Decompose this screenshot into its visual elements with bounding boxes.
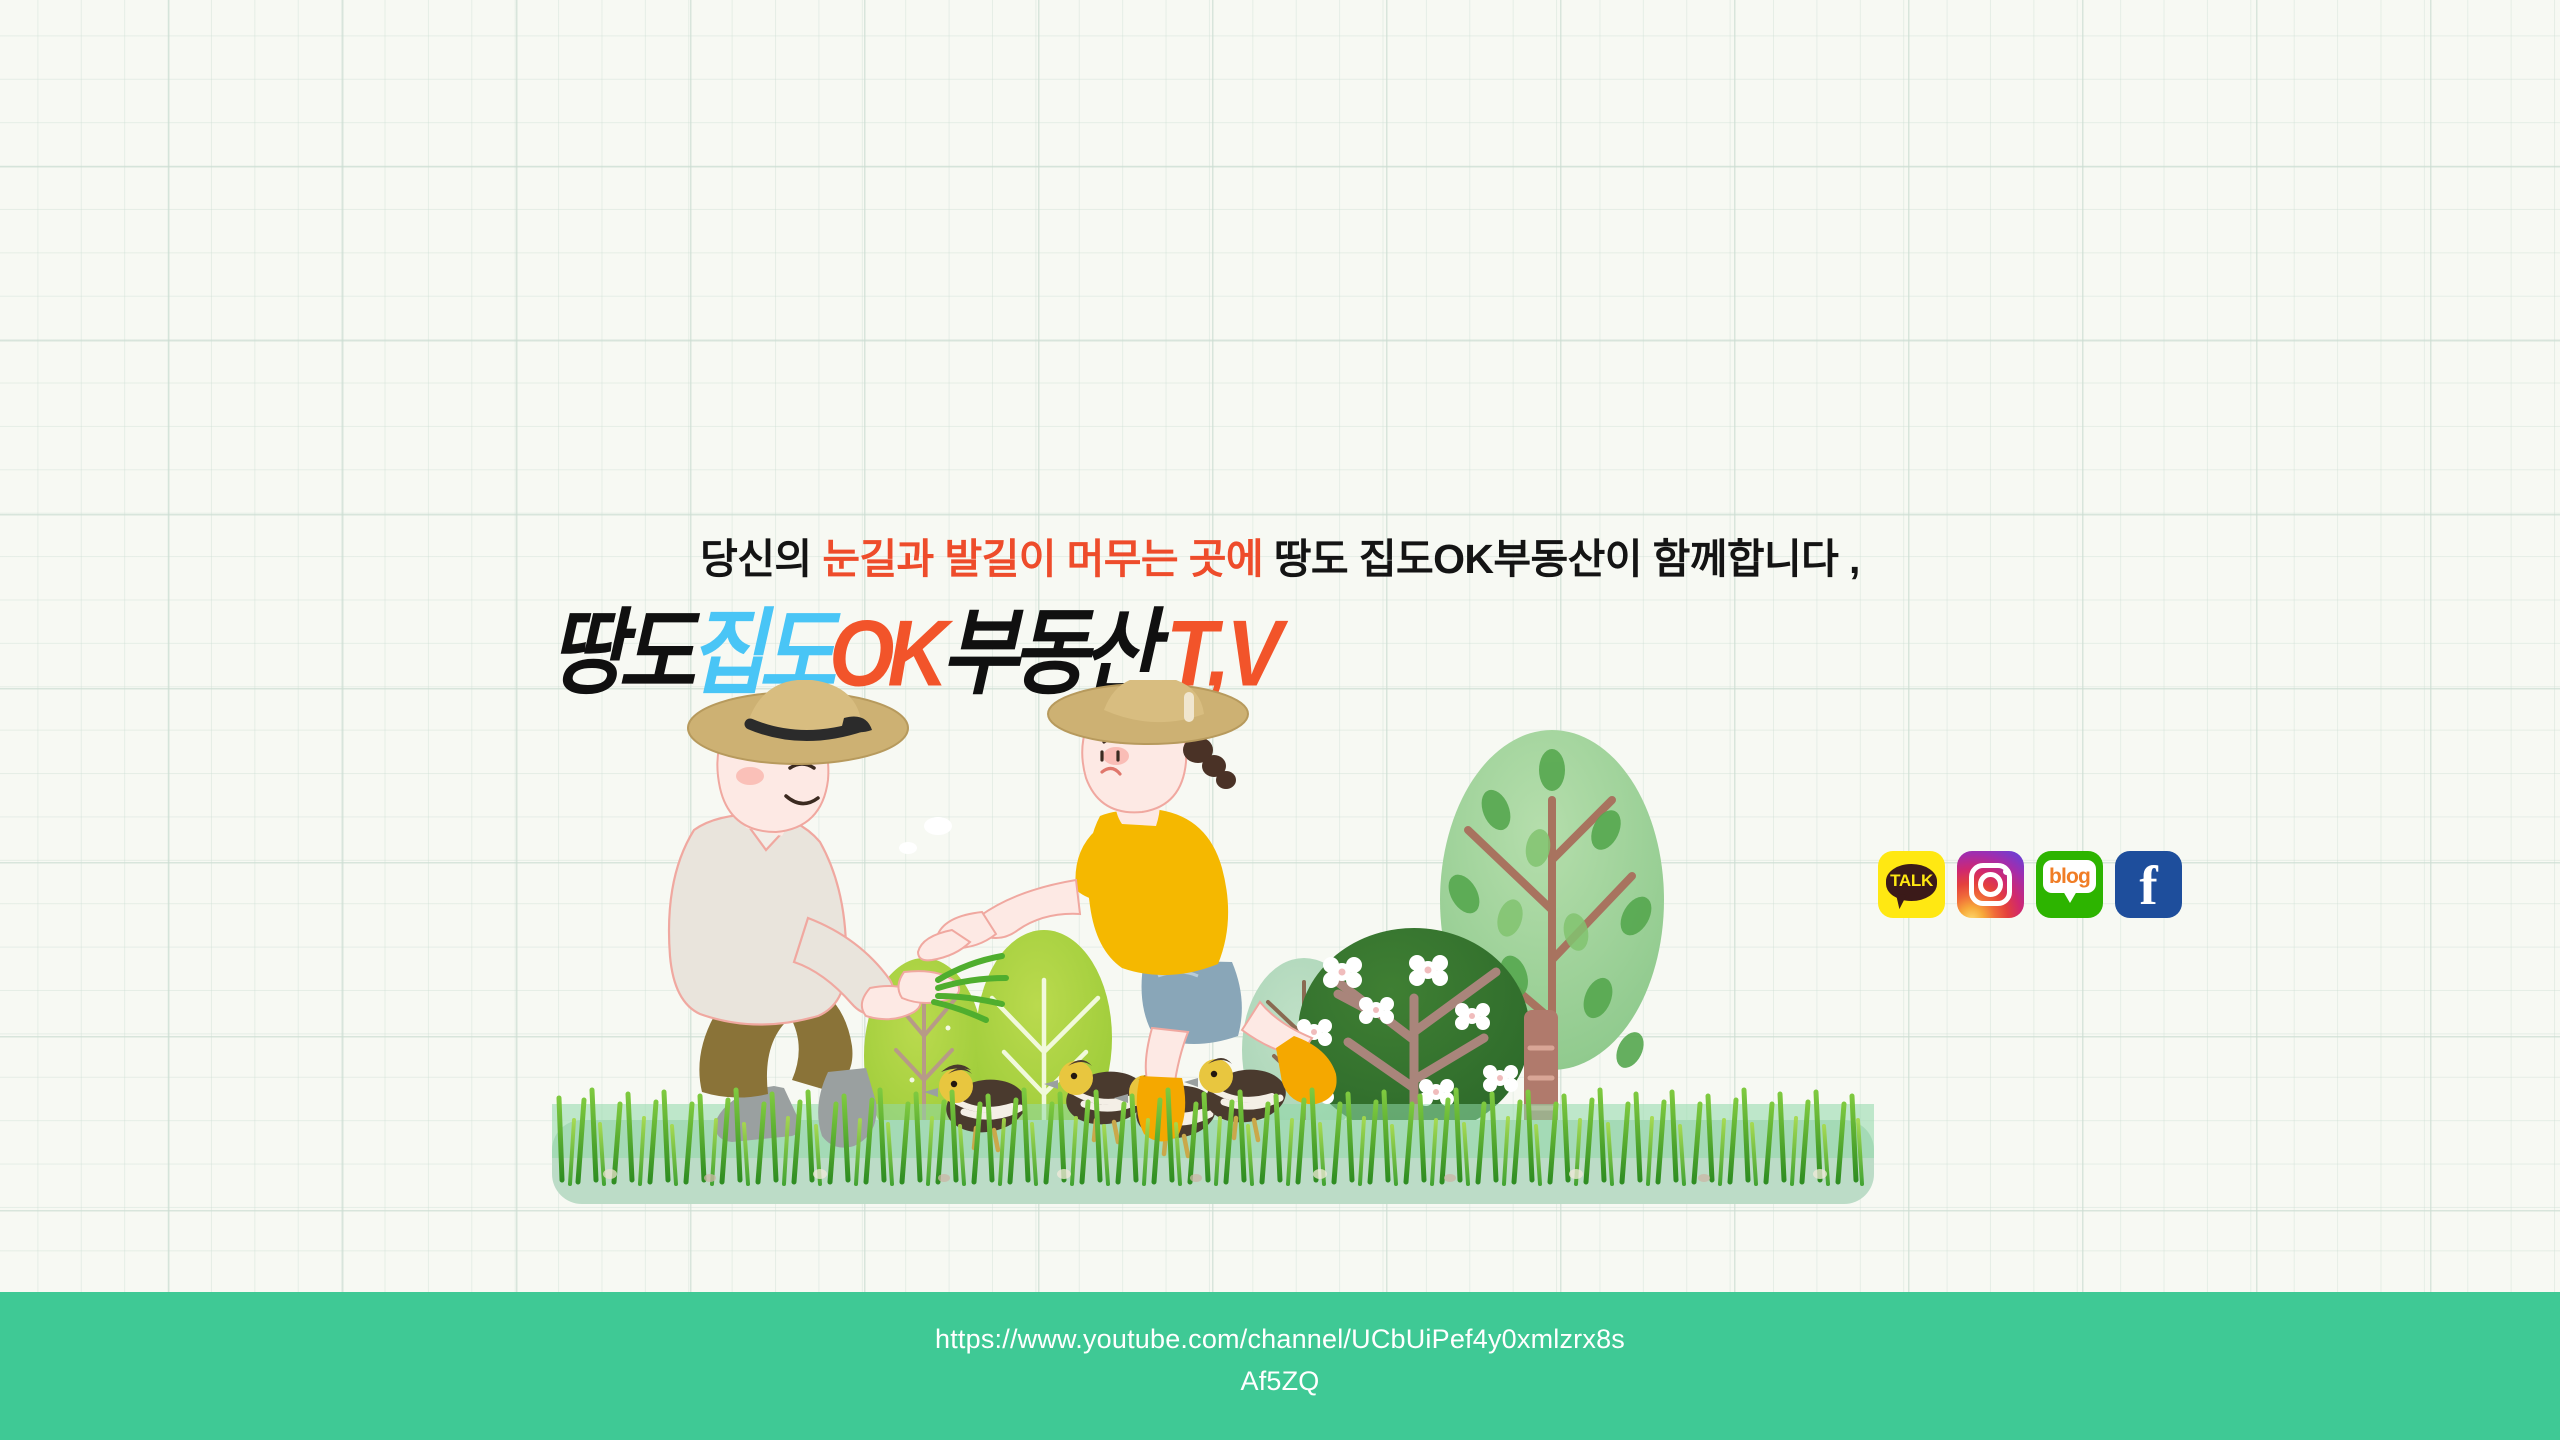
kakao-bubble-tail	[1893, 893, 1907, 910]
youtube-channel-url[interactable]: https://www.youtube.com/channel/UCbUiPef…	[935, 1318, 1625, 1402]
naver-blog-icon[interactable]: blog	[2036, 851, 2103, 918]
scene-illustration	[552, 680, 1874, 1204]
page-canvas: 당신의 눈길과 발길이 머무는 곳에 땅도 집도OK부동산이 함께합니다 , 땅…	[0, 0, 2560, 1440]
facebook-label: f	[2115, 857, 2182, 915]
sparkles	[899, 817, 952, 854]
kakaotalk-label: TALK	[1878, 871, 1945, 891]
tagline-lead: 당신의	[700, 536, 822, 582]
instagram-icon[interactable]	[1957, 851, 2024, 918]
facebook-icon[interactable]: f	[2115, 851, 2182, 918]
instagram-lens-shape	[1978, 872, 2003, 897]
tagline-highlight: 눈길과 발길이 머무는 곳에	[822, 536, 1263, 582]
naver-blog-label: blog	[2036, 865, 2103, 889]
tagline: 당신의 눈길과 발길이 머무는 곳에 땅도 집도OK부동산이 함께합니다 ,	[0, 534, 2560, 584]
social-links: TALK blog f	[1878, 851, 2182, 918]
footer-bar: https://www.youtube.com/channel/UCbUiPef…	[0, 1292, 2560, 1440]
kakaotalk-icon[interactable]: TALK	[1878, 851, 1945, 918]
braid	[1183, 737, 1236, 789]
blog-bubble-tail	[2063, 891, 2077, 903]
instagram-dot-shape	[2003, 868, 2010, 875]
tagline-tail: 땅도 집도OK부동산이 함께합니다 ,	[1263, 536, 1860, 582]
